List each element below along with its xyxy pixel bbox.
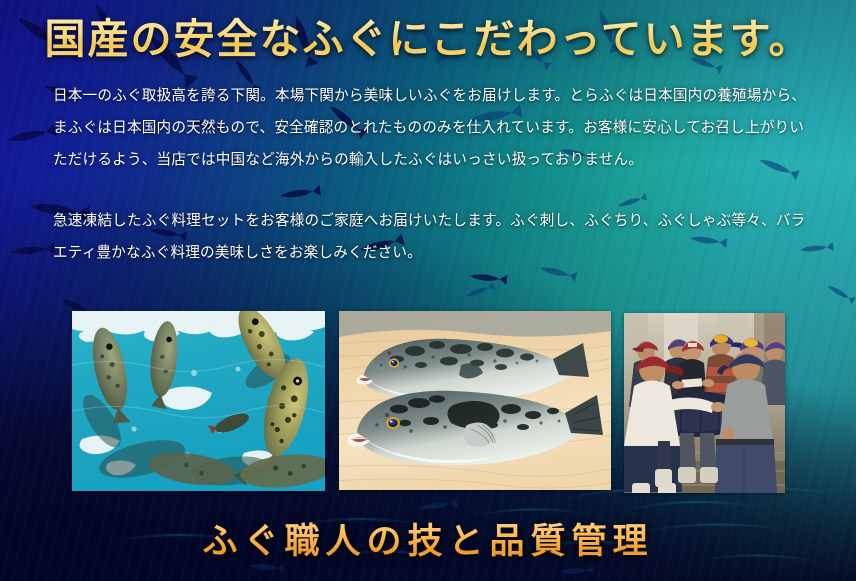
section-heading: ふぐ職人の技と品質管理 (0, 516, 856, 568)
live-fugu-tank-photo[interactable] (72, 311, 325, 491)
page-title: 国産の安全なふぐにこだわっています。 (0, 10, 856, 68)
paragraph-product-sets: 急速凍結したふぐ料理セットをお客様のご家庭へお届けいたします。ふぐ刺し、ふぐちり… (53, 205, 809, 269)
fish-market-auction-photo[interactable] (624, 313, 785, 493)
section-heading-band: ふぐ職人の技と品質管理 (0, 516, 856, 576)
page-title-band: 国産の安全なふぐにこだわっています。 (0, 10, 856, 70)
whole-fugu-photo[interactable] (339, 311, 611, 490)
fugu-landing-page: 国産の安全なふぐにこだわっています。 日本一のふぐ取扱高を誇る下関。本場下関から… (0, 0, 856, 581)
body-copy: 日本一のふぐ取扱高を誇る下関。本場下関から美味しいふぐをお届けします。とらふぐは… (53, 80, 809, 269)
paragraph-origin-policy: 日本一のふぐ取扱高を誇る下関。本場下関から美味しいふぐをお届けします。とらふぐは… (53, 80, 809, 176)
